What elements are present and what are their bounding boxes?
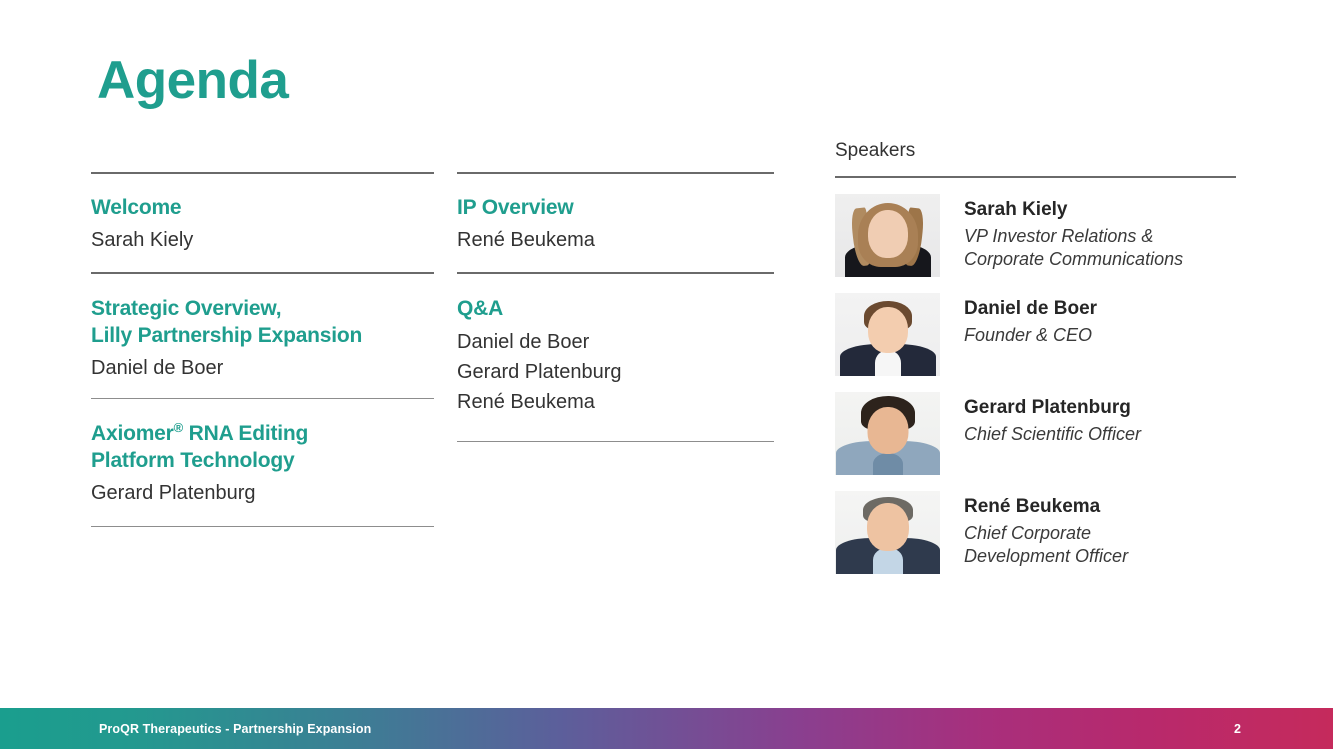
speaker-role: Founder & CEO xyxy=(964,324,1097,348)
speaker-role: Chief Scientific Officer xyxy=(964,423,1141,447)
portrait-face xyxy=(867,407,908,454)
speaker-details: Gerard Platenburg Chief Scientific Offic… xyxy=(964,392,1141,447)
speakers-heading: Speakers xyxy=(835,140,1236,176)
speaker-name: Gerard Platenburg xyxy=(964,396,1141,420)
divider xyxy=(835,176,1236,178)
speaker-list: Sarah Kiely VP Investor Relations & Corp… xyxy=(835,194,1236,574)
speaker-entry: Gerard Platenburg Chief Scientific Offic… xyxy=(835,392,1236,475)
divider xyxy=(457,441,774,442)
agenda-column-2: IP Overview René Beukema Q&A Daniel de B… xyxy=(457,172,774,442)
speaker-role: Chief Corporate Development Officer xyxy=(964,522,1128,570)
page-number: 2 xyxy=(1234,722,1241,736)
axiomer-word: Axiomer xyxy=(91,422,174,445)
registered-trademark-icon: ® xyxy=(174,420,183,435)
agenda-item-presenter: Daniel de Boer xyxy=(91,353,434,383)
divider xyxy=(91,526,434,527)
speaker-details: Daniel de Boer Founder & CEO xyxy=(964,293,1097,348)
agenda-heading-rest: RNA Editing xyxy=(183,422,308,445)
agenda-item-ip-overview: IP Overview René Beukema xyxy=(457,174,774,272)
agenda-heading-line-1: Axiomer® RNA Editing xyxy=(91,422,308,445)
agenda-item-presenter: René Beukema xyxy=(457,387,774,417)
agenda-item-qa: Q&A Daniel de Boer Gerard Platenburg Ren… xyxy=(457,274,774,440)
agenda-item-axiomer-platform: Axiomer® RNA Editing Platform Technology… xyxy=(91,399,434,526)
portrait-shirt xyxy=(873,453,903,475)
portrait-shirt xyxy=(875,350,901,376)
agenda-item-welcome: Welcome Sarah Kiely xyxy=(91,174,434,272)
agenda-item-presenter: Sarah Kiely xyxy=(91,225,434,255)
portrait-shirt xyxy=(873,548,903,574)
speaker-entry: Sarah Kiely VP Investor Relations & Corp… xyxy=(835,194,1236,277)
agenda-item-heading: Welcome xyxy=(91,195,434,221)
agenda-item-presenter: René Beukema xyxy=(457,225,774,255)
slide-footer: ProQR Therapeutics - Partnership Expansi… xyxy=(0,708,1333,749)
agenda-column-1: Welcome Sarah Kiely Strategic Overview, … xyxy=(91,172,434,527)
speaker-name: René Beukema xyxy=(964,495,1128,519)
avatar xyxy=(835,293,940,376)
presentation-slide: Agenda Welcome Sarah Kiely Strategic Ove… xyxy=(0,0,1333,749)
page-title: Agenda xyxy=(97,52,288,110)
portrait-face xyxy=(868,210,908,258)
agenda-item-presenter: Gerard Platenburg xyxy=(91,478,434,508)
speaker-name: Sarah Kiely xyxy=(964,198,1183,222)
speaker-entry: Daniel de Boer Founder & CEO xyxy=(835,293,1236,376)
speaker-entry: René Beukema Chief Corporate Development… xyxy=(835,491,1236,574)
speaker-details: Sarah Kiely VP Investor Relations & Corp… xyxy=(964,194,1183,272)
speaker-details: René Beukema Chief Corporate Development… xyxy=(964,491,1128,569)
agenda-heading-line-1: Strategic Overview, xyxy=(91,297,281,320)
speaker-role: VP Investor Relations & Corporate Commun… xyxy=(964,225,1183,273)
footer-label: ProQR Therapeutics - Partnership Expansi… xyxy=(99,722,371,736)
avatar xyxy=(835,491,940,574)
avatar xyxy=(835,194,940,277)
agenda-item-strategic-overview: Strategic Overview, Lilly Partnership Ex… xyxy=(91,274,434,398)
agenda-item-heading: Q&A xyxy=(457,296,774,322)
agenda-item-heading: IP Overview xyxy=(457,195,774,221)
agenda-item-heading: Axiomer® RNA Editing Platform Technology xyxy=(91,421,434,474)
speaker-name: Daniel de Boer xyxy=(964,297,1097,321)
agenda-heading-line-2: Lilly Partnership Expansion xyxy=(91,324,362,347)
agenda-heading-line-2: Platform Technology xyxy=(91,449,295,472)
portrait-face xyxy=(867,503,909,551)
agenda-item-presenter: Daniel de Boer xyxy=(457,327,774,357)
agenda-item-presenter: Gerard Platenburg xyxy=(457,357,774,387)
portrait-face xyxy=(868,307,908,353)
agenda-item-heading: Strategic Overview, Lilly Partnership Ex… xyxy=(91,296,434,349)
avatar xyxy=(835,392,940,475)
speakers-panel: Speakers Sarah Kiely VP Investor Relatio… xyxy=(835,140,1236,574)
